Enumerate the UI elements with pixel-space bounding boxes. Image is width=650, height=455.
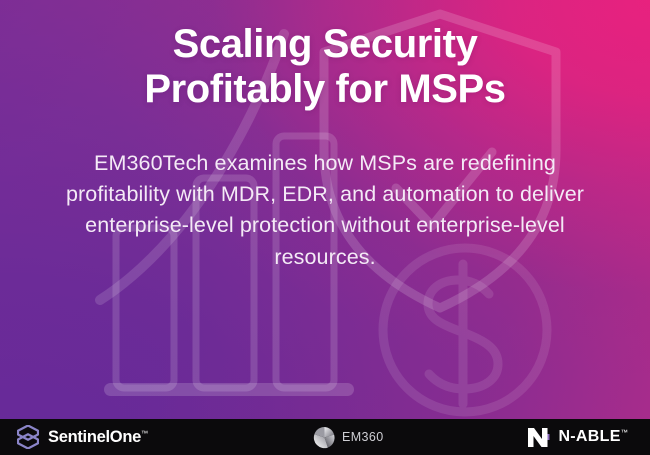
- logo-nable[interactable]: N-ABLE™: [493, 419, 650, 455]
- em360-icon: [313, 426, 336, 449]
- text-content: Scaling Security Profitably for MSPs EM3…: [0, 0, 650, 419]
- logo-em360[interactable]: EM360: [267, 419, 493, 455]
- sentinelone-icon: [17, 425, 39, 449]
- nable-wordmark: N-ABLE™: [558, 428, 628, 446]
- page-title: Scaling Security Profitably for MSPs: [45, 0, 605, 112]
- sentinelone-trademark: ™: [141, 430, 148, 437]
- promo-slide: Scaling Security Profitably for MSPs EM3…: [0, 0, 650, 455]
- nable-trademark: ™: [621, 430, 628, 437]
- subheadline: EM360Tech examines how MSPs are redefini…: [42, 112, 608, 274]
- em360-wordmark: EM360: [342, 430, 384, 444]
- sponsor-logo-bar: SentinelOne™: [0, 419, 650, 455]
- headline-line-1: Scaling Security: [173, 22, 478, 66]
- nable-icon: [527, 427, 550, 448]
- logo-sentinelone[interactable]: SentinelOne™: [0, 419, 267, 455]
- sentinelone-wordmark: SentinelOne™: [48, 428, 148, 447]
- headline-line-2: Profitably for MSPs: [45, 67, 605, 112]
